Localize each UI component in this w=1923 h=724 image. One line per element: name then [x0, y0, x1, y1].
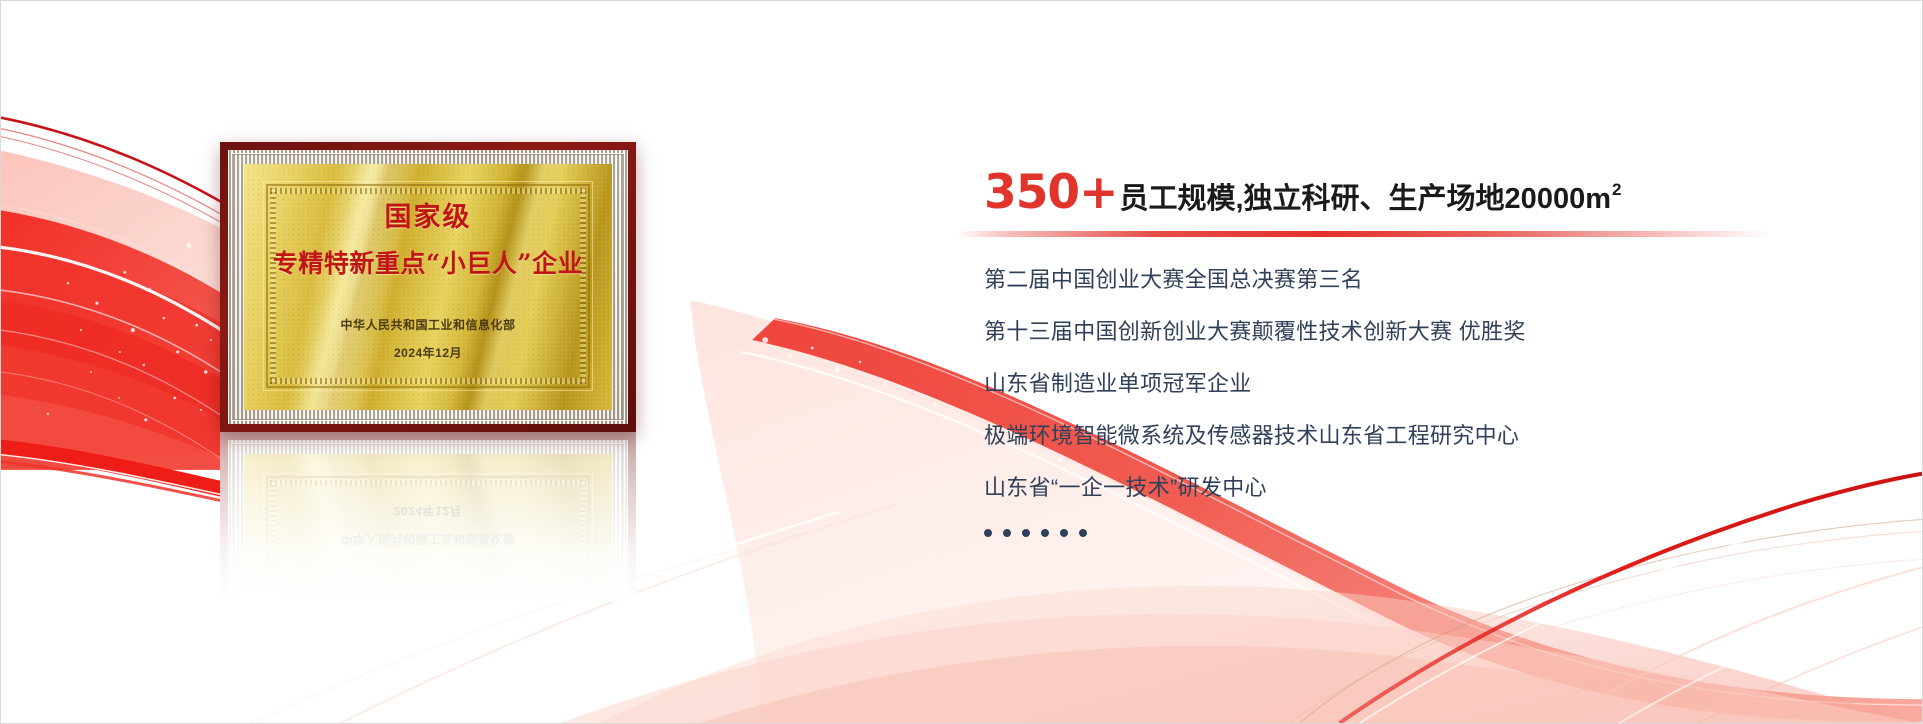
list-item: 第二届中国创业大赛全国总决赛第三名: [984, 269, 1814, 291]
ellipsis-dots-icon: [984, 529, 1814, 537]
headline-text: 员工规模,独立科研、生产场地20000m: [1120, 185, 1612, 214]
award-plaque: 国家级 专精特新重点“小巨人”企业 中华人民共和国工业和信息化部 2024年12…: [220, 142, 636, 432]
plaque-reflection: 国家级 专精特新重点“小巨人”企业 中华人民共和国工业和信息化部 2024年12…: [220, 432, 636, 602]
plaque-title-line-1: 国家级: [385, 204, 472, 231]
plaque-date: 2024年12月: [394, 344, 462, 361]
headline-underline-bar: [956, 231, 1771, 237]
reflection-title-2: 专精特新重点“小巨人”企业: [273, 588, 583, 602]
plaque-issuer: 中华人民共和国工业和信息化部: [340, 316, 515, 333]
list-item: 极端环境智能微系统及传感器技术山东省工程研究中心: [984, 425, 1814, 447]
plaque-outer-frame: 国家级 专精特新重点“小巨人”企业 中华人民共和国工业和信息化部 2024年12…: [220, 142, 636, 432]
plaque-title-line-2: 专精特新重点“小巨人”企业: [273, 251, 583, 276]
list-item: 第十三届中国创新创业大赛颠覆性技术创新大赛 优胜奖: [984, 321, 1814, 343]
honors-slide: 国家级 专精特新重点“小巨人”企业 中华人民共和国工业和信息化部 2024年12…: [0, 0, 1923, 724]
headline-highlight-number: 350+: [984, 169, 1118, 216]
plaque-gold-plate: 国家级 专精特新重点“小巨人”企业 中华人民共和国工业和信息化部 2024年12…: [244, 164, 612, 410]
content-panel: 350+ 员工规模,独立科研、生产场地20000m 2 第二届中国创业大赛全国总…: [984, 169, 1814, 537]
reflection-fade-mask: [220, 432, 636, 602]
reflection-date: 2024年12月: [394, 503, 462, 520]
headline-superscript: 2: [1612, 181, 1621, 198]
plaque-silver-border: 国家级 专精特新重点“小巨人”企业 中华人民共和国工业和信息化部 2024年12…: [228, 150, 628, 424]
reflection-issuer: 中华人民共和国工业和信息化部: [340, 531, 515, 548]
list-item: 山东省制造业单项冠军企业: [984, 373, 1814, 395]
plaque-text-block: 国家级 专精特新重点“小巨人”企业 中华人民共和国工业和信息化部 2024年12…: [244, 164, 612, 410]
list-item-ellipsis: [984, 529, 1814, 537]
headline: 350+ 员工规模,独立科研、生产场地20000m 2: [984, 169, 1814, 216]
plaque-silver-inner-border: 国家级 专精特新重点“小巨人”企业 中华人民共和国工业和信息化部 2024年12…: [244, 164, 612, 410]
awards-list: 第二届中国创业大赛全国总决赛第三名 第十三届中国创新创业大赛颠覆性技术创新大赛 …: [984, 269, 1814, 537]
list-item: 山东省“一企一技术”研发中心: [984, 477, 1814, 499]
